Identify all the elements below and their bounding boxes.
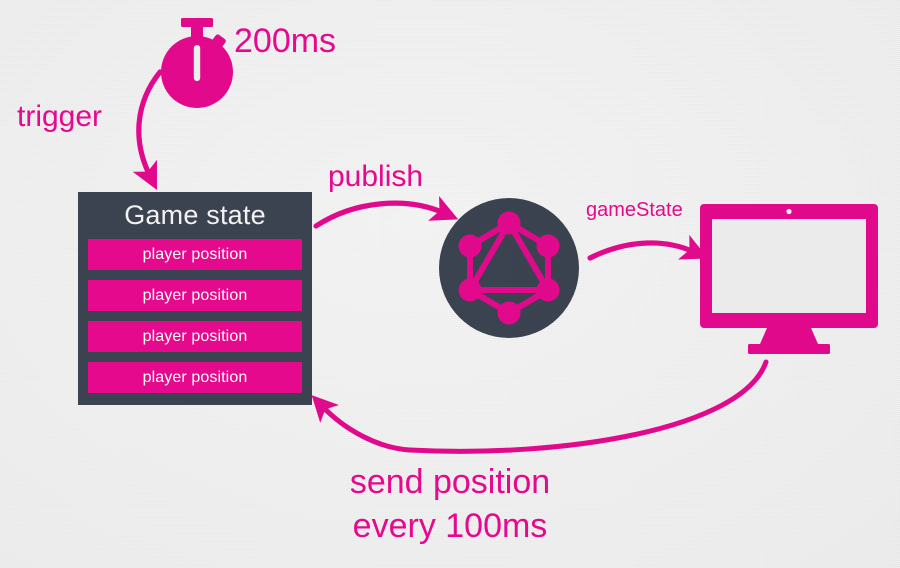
- desktop-monitor-icon: [700, 204, 878, 354]
- player-position-row: player position: [88, 239, 302, 270]
- graphql-logo-icon: [439, 198, 579, 338]
- diagram-canvas: Game state player position player positi…: [0, 0, 900, 568]
- publish-label: publish: [328, 160, 423, 194]
- trigger-label: trigger: [17, 100, 102, 134]
- gamestate-arrow: [590, 243, 694, 258]
- publish-arrow: [316, 203, 444, 226]
- game-state-panel: Game state player position player positi…: [78, 192, 312, 405]
- send-position-line-1: send position: [0, 460, 900, 504]
- player-position-row: player position: [88, 280, 302, 311]
- send-position-line-2: every 100ms: [0, 504, 900, 548]
- send-position-label: send position every 100ms: [0, 460, 900, 548]
- gamestate-payload-label: gameState: [586, 199, 683, 222]
- stopwatch-icon: [161, 18, 233, 108]
- player-position-row: player position: [88, 362, 302, 393]
- timer-duration-label: 200ms: [234, 22, 336, 61]
- player-position-row: player position: [88, 321, 302, 352]
- trigger-arrow: [139, 72, 160, 176]
- send-position-arrow: [322, 362, 766, 451]
- game-state-title: Game state: [88, 198, 302, 234]
